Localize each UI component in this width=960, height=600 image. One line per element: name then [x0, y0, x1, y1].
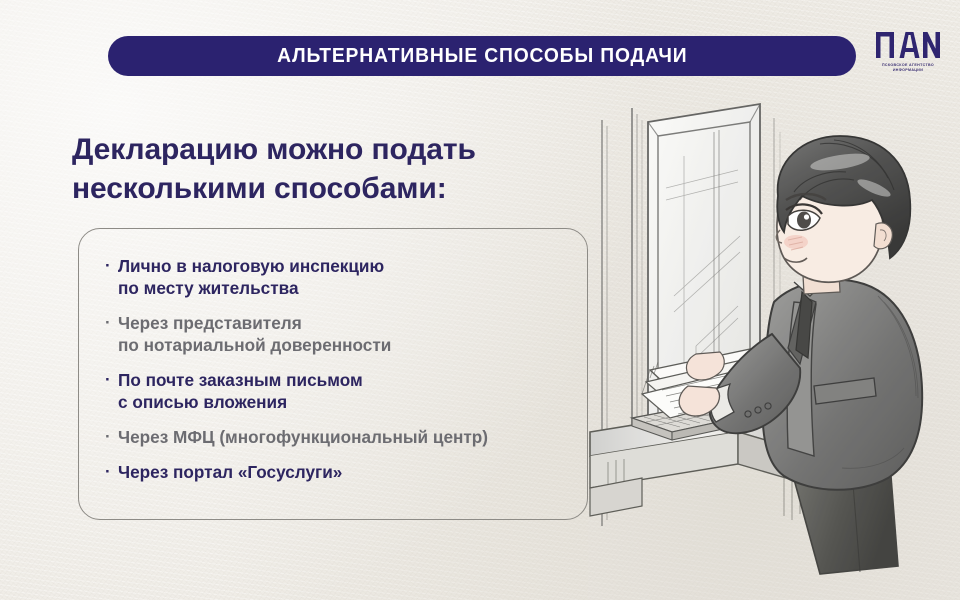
methods-list: · Лично в налоговую инспекцию по месту ж… [105, 255, 561, 483]
list-item: · Через МФЦ (многофункциональный центр) [105, 426, 561, 448]
list-item: · По почте заказным письмом с описью вло… [105, 369, 561, 413]
list-item-line1: Через МФЦ (многофункциональный центр) [118, 427, 488, 447]
list-item-text: Через МФЦ (многофункциональный центр) [118, 426, 488, 448]
list-item-line2: по месту жительства [118, 277, 384, 299]
list-item-line1: По почте заказным письмом [118, 370, 363, 390]
page-title-line2: несколькими способами: [72, 169, 592, 208]
list-item-line1: Через представителя [118, 313, 302, 333]
logo-caption-line2: ИНФОРМАЦИИ [872, 68, 944, 73]
list-item-line2: с описью вложения [118, 391, 363, 413]
bullet-icon: · [105, 461, 118, 483]
bullet-icon: · [105, 255, 118, 277]
bullet-icon: · [105, 312, 118, 334]
list-item-text: По почте заказным письмом с описью вложе… [118, 369, 363, 413]
bullet-icon: · [105, 426, 118, 448]
list-item: · Через представителя по нотариальной до… [105, 312, 561, 356]
logo: ПСКОВСКОЕ АГЕНТСТВО ИНФОРМАЦИИ [868, 30, 948, 82]
list-item-line2: по нотариальной доверенности [118, 334, 391, 356]
logo-caption: ПСКОВСКОЕ АГЕНТСТВО ИНФОРМАЦИИ [872, 63, 944, 73]
list-item: · Лично в налоговую инспекцию по месту ж… [105, 255, 561, 299]
list-item-line1: Через портал «Госуслуги» [118, 462, 342, 482]
methods-card: · Лично в налоговую инспекцию по месту ж… [78, 228, 588, 520]
list-item-text: Лично в налоговую инспекцию по месту жит… [118, 255, 384, 299]
list-item-text: Через портал «Госуслуги» [118, 461, 342, 483]
pai-logo-icon [875, 30, 941, 60]
bullet-icon: · [105, 369, 118, 391]
page-title-line1: Декларацию можно подать [72, 130, 592, 169]
page-title: Декларацию можно подать несколькими спос… [72, 130, 592, 208]
list-item: · Через портал «Госуслуги» [105, 461, 561, 483]
header-banner: АЛЬТЕРНАТИВНЫЕ СПОСОБЫ ПОДАЧИ [108, 36, 856, 76]
list-item-line1: Лично в налоговую инспекцию [118, 256, 384, 276]
list-item-text: Через представителя по нотариальной дове… [118, 312, 391, 356]
banner-title: АЛЬТЕРНАТИВНЫЕ СПОСОБЫ ПОДАЧИ [277, 44, 687, 68]
